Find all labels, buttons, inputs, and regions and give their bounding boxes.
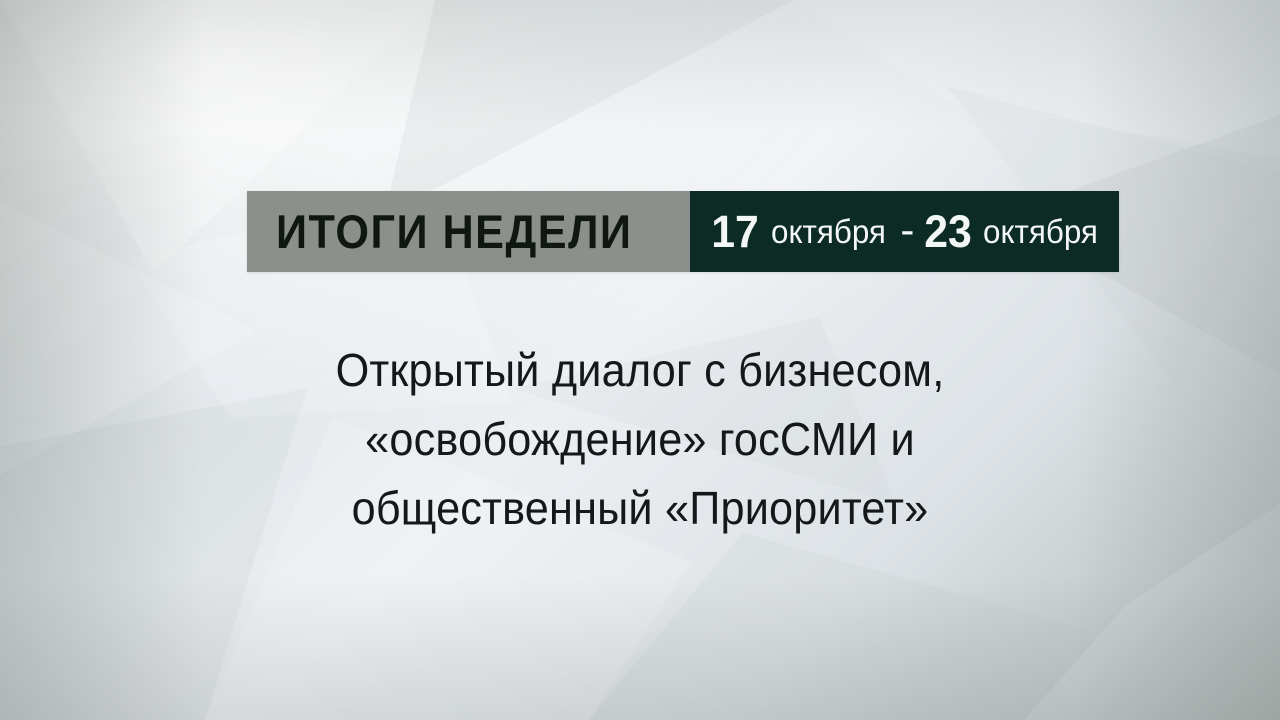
weekly-summary-banner: ИТОГИ НЕДЕЛИ 17 октября - 23 октября [247,191,1119,272]
headline-line-3: общественный «Приоритет» [38,474,1241,543]
date-start-month: октября [771,215,886,248]
headline-block: Открытый диалог с бизнесом, «освобождени… [0,336,1280,543]
banner-title-text: ИТОГИ НЕДЕЛИ [276,208,632,255]
banner-date-block: 17 октября - 23 октября [690,191,1119,272]
date-start-day: 17 [712,209,760,254]
slide-canvas: ИТОГИ НЕДЕЛИ 17 октября - 23 октября Отк… [0,0,1280,720]
date-end-month: октября [984,215,1099,248]
banner-title-block: ИТОГИ НЕДЕЛИ [247,191,690,272]
date-end-day: 23 [925,209,973,254]
headline-line-2: «освобождение» госСМИ и [38,405,1241,474]
date-range-separator: - [900,209,914,251]
headline-line-1: Открытый диалог с бизнесом, [38,336,1241,405]
